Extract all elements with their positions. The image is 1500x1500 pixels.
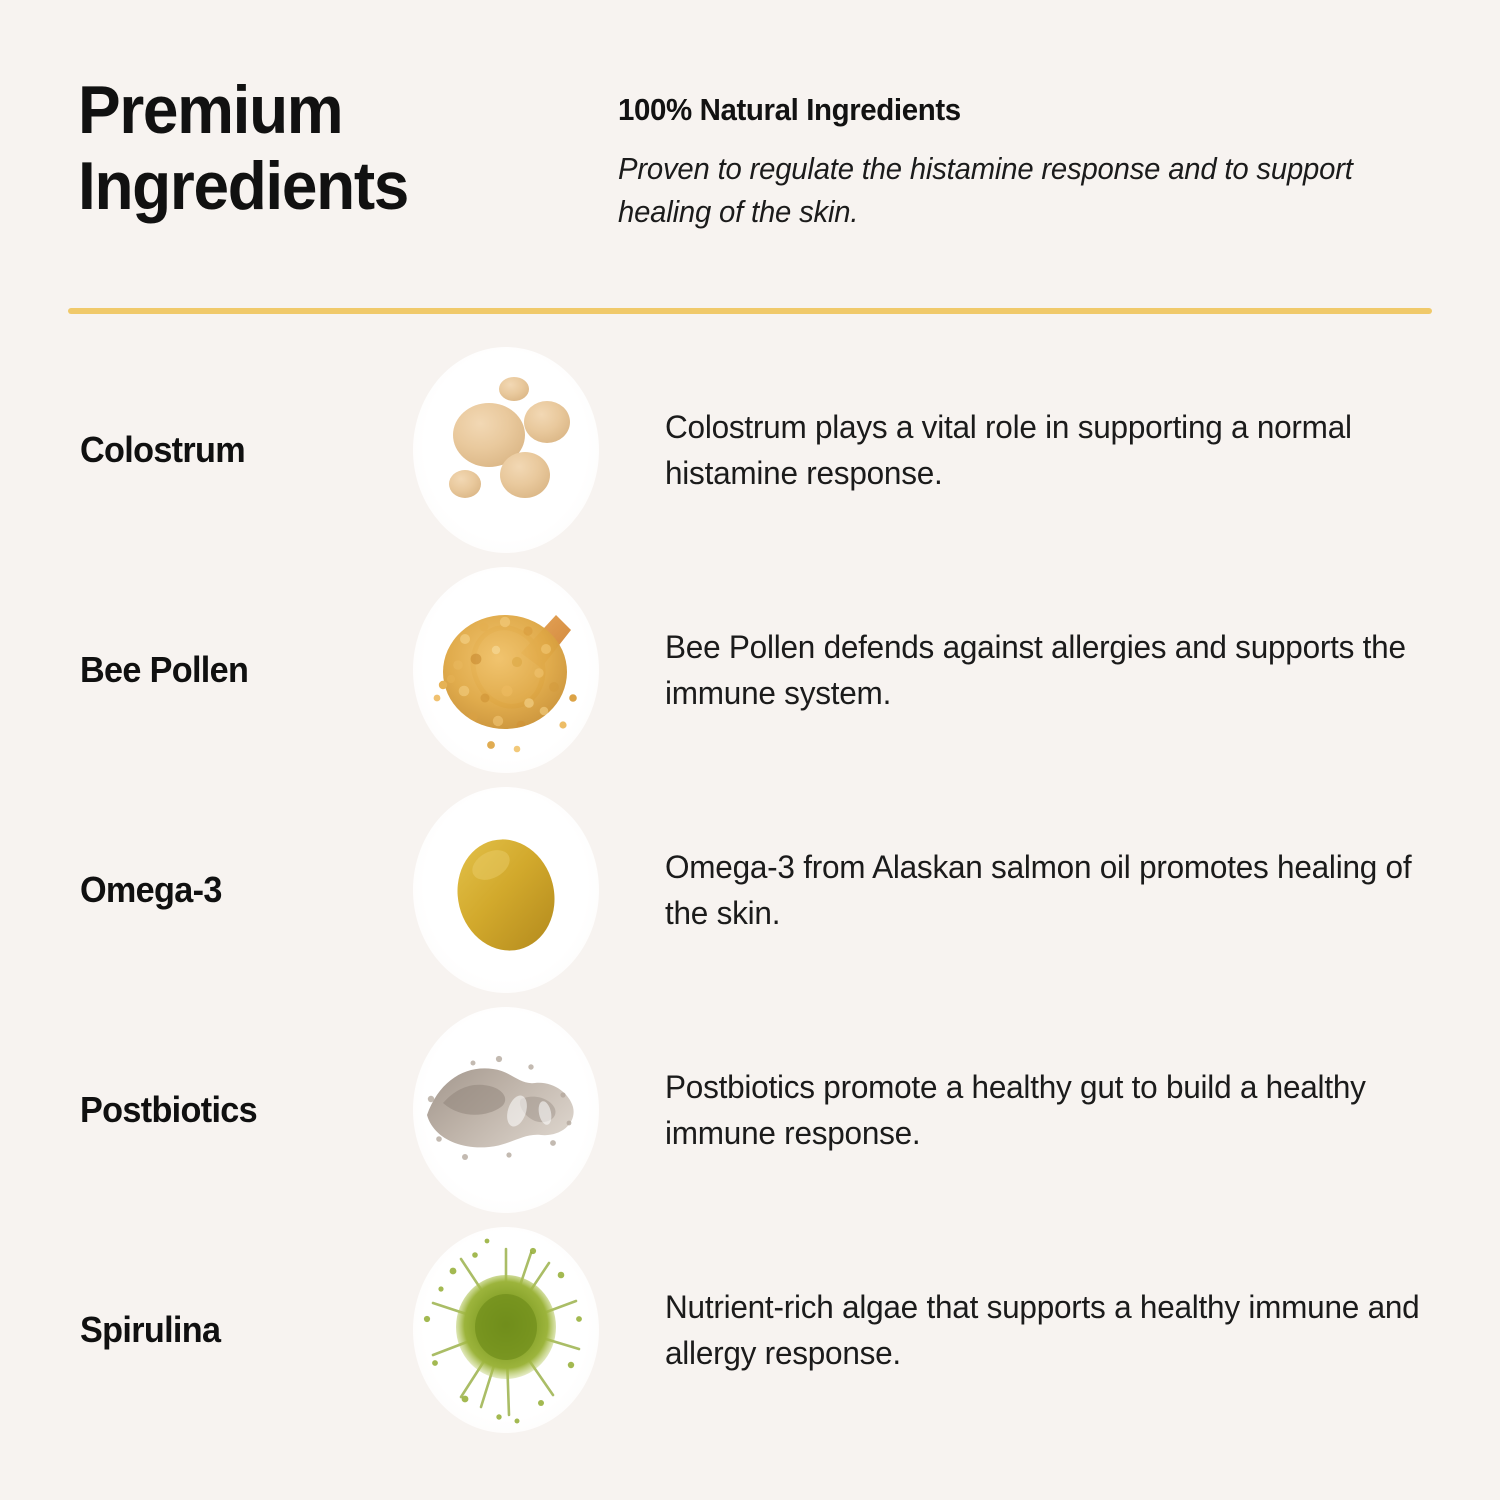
ingredient-description: Colostrum plays a vital role in supporti…	[665, 404, 1451, 496]
ingredient-description: Bee Pollen defends against allergies and…	[665, 624, 1451, 716]
list-item: Spirulina	[0, 1220, 1500, 1440]
ingredient-description: Nutrient-rich algae that supports a heal…	[665, 1284, 1451, 1376]
header-divider	[68, 308, 1432, 314]
colostrum-droplets-icon	[413, 347, 599, 553]
ingredient-description: Omega-3 from Alaskan salmon oil promotes…	[665, 844, 1451, 936]
ingredients-list: Colostrum	[0, 340, 1500, 1440]
ingredient-name: Postbiotics	[80, 1089, 394, 1131]
postbiotics-powder-icon	[413, 1007, 599, 1213]
ingredient-name: Spirulina	[80, 1309, 394, 1351]
ingredient-media	[400, 784, 612, 996]
bee-pollen-granules-icon	[413, 567, 599, 773]
list-item: Postbiotics	[0, 1000, 1500, 1220]
ingredients-infographic: Premium Ingredients 100% Natural Ingredi…	[0, 0, 1500, 1500]
ingredient-media	[400, 1224, 612, 1436]
list-item: Bee Pollen	[0, 560, 1500, 780]
ingredient-name: Bee Pollen	[80, 649, 394, 691]
ingredient-media	[400, 564, 612, 776]
list-item: Colostrum	[0, 340, 1500, 560]
spirulina-powder-icon	[413, 1227, 599, 1433]
header-kicker: 100% Natural Ingredients	[618, 92, 1416, 128]
header-section: Premium Ingredients 100% Natural Ingredi…	[0, 0, 1500, 310]
ingredient-media	[400, 344, 612, 556]
list-item: Omega-3 Omega-3 from Alaskan salmon oi	[0, 780, 1500, 1000]
header-subtitle: Proven to regulate the histamine respons…	[618, 148, 1424, 235]
ingredient-description: Postbiotics promote a healthy gut to bui…	[665, 1064, 1451, 1156]
ingredient-name: Omega-3	[80, 869, 394, 911]
omega3-oil-droplet-icon	[413, 787, 599, 993]
ingredient-name: Colostrum	[80, 429, 394, 471]
page-title: Premium Ingredients	[78, 72, 567, 224]
ingredient-media	[400, 1004, 612, 1216]
header-text-block: 100% Natural Ingredients Proven to regul…	[618, 92, 1458, 235]
